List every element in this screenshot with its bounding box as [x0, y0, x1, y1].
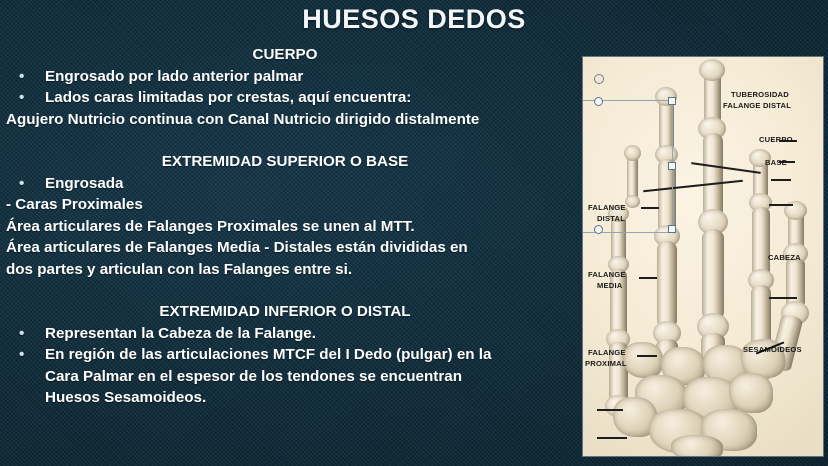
bullet-line: • En región de las articulaciones MTCF d… — [0, 344, 580, 366]
bullet-line: • Engrosada — [0, 173, 580, 195]
bullet-icon: • — [19, 323, 24, 345]
leader-line — [637, 355, 657, 357]
bullet-text: Engrosado por lado anterior palmar — [45, 68, 303, 85]
label-base: BASE — [765, 158, 787, 168]
leader-line — [771, 179, 791, 181]
label-falange-media-2: MEDIA — [597, 281, 622, 291]
label-falange-proximal-2: PROXIMAL — [585, 359, 627, 369]
bullet-text: En región de las articulaciones MTCF del… — [45, 346, 491, 363]
bullet-line: • Representan la Cabeza de la Falange. — [0, 323, 580, 345]
bullet-text: Lados caras limitadas por crestas, aquí … — [45, 89, 411, 106]
selection-handle-bottom-right[interactable] — [668, 225, 676, 233]
body-line: Área articulares de Falanges Proximales … — [0, 216, 580, 238]
label-falange-distal-top: FALANGE DISTAL — [723, 101, 791, 111]
section-heading-extremidad-superior: EXTREMIDAD SUPERIOR O BASE — [0, 151, 580, 173]
slide-body-text: CUERPO • Engrosado por lado anterior pal… — [0, 44, 580, 409]
leader-line — [769, 204, 793, 206]
spacer — [0, 280, 580, 301]
bullet-icon: • — [19, 66, 24, 88]
selection-handle-middle-right[interactable] — [668, 162, 676, 170]
selection-handle-bottom[interactable] — [594, 225, 603, 234]
bullet-text: Representan la Cabeza de la Falange. — [45, 325, 316, 342]
body-line: Huesos Sesamoideos. — [0, 387, 580, 409]
body-line: - Caras Proximales — [0, 194, 580, 216]
bullet-text: Engrosada — [45, 175, 124, 192]
leader-line — [597, 437, 627, 439]
anatomical-illustration[interactable]: TUBEROSIDAD FALANGE DISTAL CUERPO BASE C… — [583, 57, 823, 456]
leader-line — [639, 277, 657, 279]
bullet-icon: • — [19, 344, 24, 366]
leader-line — [769, 297, 797, 299]
bullet-icon: • — [19, 87, 24, 109]
label-cabeza: CABEZA — [768, 253, 801, 263]
body-line: Agujero Nutricio continua con Canal Nutr… — [0, 109, 580, 131]
label-falange-proximal-1: FALANGE — [588, 348, 626, 358]
label-tuberosidad: TUBEROSIDAD — [731, 90, 789, 100]
label-cuerpo: CUERPO — [759, 135, 793, 145]
section-heading-cuerpo: CUERPO — [0, 44, 580, 66]
section-heading-extremidad-inferior: EXTREMIDAD INFERIOR O DISTAL — [0, 301, 580, 323]
page-title: HUESOS DEDOS — [0, 4, 828, 35]
slide-canvas: HUESOS DEDOS CUERPO • Engrosado por lado… — [0, 0, 828, 466]
label-falange-media-1: FALANGE — [588, 270, 626, 280]
body-line: dos partes y articulan con las Falanges … — [0, 259, 580, 281]
label-sesamoideos: SESAMOIDEOS — [743, 345, 802, 355]
bullet-line: • Lados caras limitadas por crestas, aqu… — [0, 87, 580, 109]
selection-handle-top[interactable] — [594, 97, 603, 106]
leader-line — [597, 409, 623, 411]
body-line: Área articulares de Falanges Media - Dis… — [0, 237, 580, 259]
selection-handle-top-right[interactable] — [668, 97, 676, 105]
body-line: Cara Palmar en el espesor de los tendone… — [0, 366, 580, 388]
spacer — [0, 130, 580, 151]
selection-bounding-box[interactable] — [583, 100, 673, 233]
bullet-icon: • — [19, 173, 24, 195]
bullet-line: • Engrosado por lado anterior palmar — [0, 66, 580, 88]
rotate-handle[interactable] — [594, 74, 604, 84]
